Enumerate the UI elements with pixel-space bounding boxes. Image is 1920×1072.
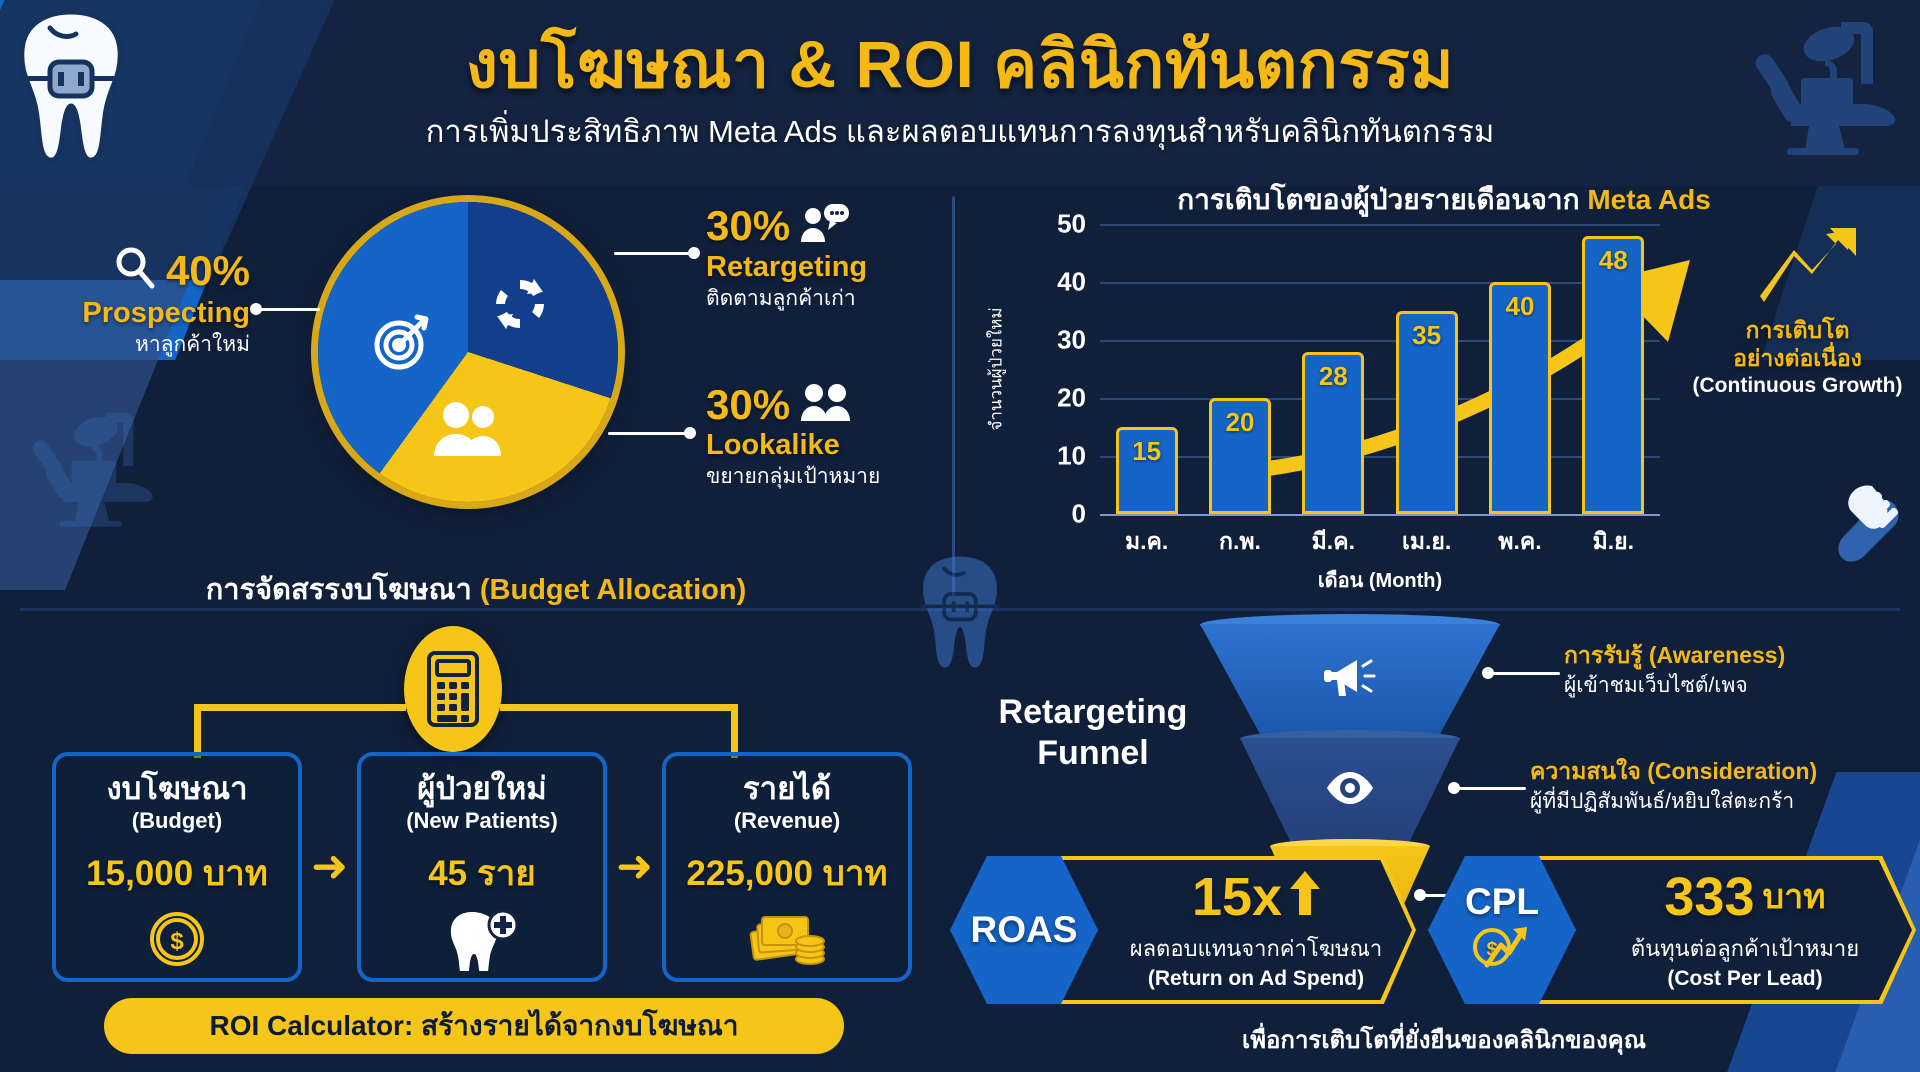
leader-line-lookalike bbox=[608, 432, 690, 435]
target-icon bbox=[370, 312, 432, 374]
funnel-leader-dot-2 bbox=[1448, 782, 1460, 794]
bar-may: 40 bbox=[1489, 282, 1551, 514]
y-tick-0: 0 bbox=[1072, 499, 1086, 530]
metric-roas-value-row: 15x bbox=[1192, 870, 1320, 924]
bar-value-jan: 15 bbox=[1119, 436, 1175, 467]
legend-prospecting: 40% Prospecting หาลูกค้าใหม่ bbox=[60, 246, 250, 358]
roi-card-patients-en: (New Patients) bbox=[406, 808, 558, 834]
roi-card-patients: ผู้ป่วยใหม่ (New Patients) 45 ราย bbox=[357, 752, 607, 982]
up-arrow-icon bbox=[1290, 870, 1320, 924]
y-tick-40: 40 bbox=[1057, 267, 1086, 298]
funnel-label-awareness-sub: ผู้เข้าชมเว็บไซต์/เพจ bbox=[1564, 669, 1785, 702]
megaphone-icon bbox=[1323, 654, 1377, 705]
bar-feb: 20 bbox=[1209, 398, 1271, 514]
infographic-root: งบโฆษณา & ROI คลินิกทันตกรรม การเพิ่มประ… bbox=[0, 0, 1920, 1072]
people-icon bbox=[431, 398, 505, 460]
coin-growth-icon: $ bbox=[1471, 921, 1533, 980]
connector-left-top bbox=[194, 704, 406, 711]
roi-card-revenue-th: รายได้ bbox=[743, 772, 831, 806]
calculator-icon bbox=[404, 626, 502, 752]
legend-retargeting-th: ติดตามลูกค้าเก่า bbox=[706, 286, 946, 311]
funnel-label-awareness-title: การรับรู้ (Awareness) bbox=[1564, 642, 1785, 668]
roi-banner: ROI Calculator: สร้างรายได้จากงบโฆษณา bbox=[104, 998, 844, 1054]
legend-prospecting-pct: 40% bbox=[166, 250, 250, 292]
leader-line-retargeting bbox=[614, 252, 694, 255]
bar-group: 15 ม.ค. 20 ก.พ. 28 มี.ค. bbox=[1100, 224, 1660, 514]
bar-value-mar: 28 bbox=[1305, 361, 1361, 392]
bar-column: 40 พ.ค. bbox=[1489, 224, 1551, 514]
legend-prospecting-th: หาลูกค้าใหม่ bbox=[60, 332, 250, 357]
metric-cpl-unit: บาท bbox=[1763, 880, 1826, 914]
funnel-stage-awareness bbox=[1200, 624, 1500, 734]
flow-arrow-2: ➜ bbox=[616, 845, 653, 889]
x-tick-jun: มิ.ย. bbox=[1593, 524, 1634, 560]
roi-card-patients-th: ผู้ป่วยใหม่ bbox=[417, 772, 546, 806]
svg-text:$: $ bbox=[170, 928, 184, 955]
y-tick-20: 20 bbox=[1057, 383, 1086, 414]
roi-card-revenue-en: (Revenue) bbox=[734, 808, 840, 834]
y-tick-50: 50 bbox=[1057, 209, 1086, 240]
legend-retargeting-pct: 30% bbox=[706, 205, 790, 247]
connector-right-top bbox=[500, 704, 738, 711]
eye-icon bbox=[1324, 768, 1376, 813]
connector-left-down bbox=[194, 704, 201, 758]
footer-note: เพื่อการเติบโตที่ยั่งยืนของคลินิกของคุณ bbox=[968, 1020, 1920, 1059]
funnel-label-consideration-title: ความสนใจ (Consideration) bbox=[1530, 758, 1817, 784]
growth-annotation: การเติบโต อย่างต่อเนื่อง (Continuous Gro… bbox=[1685, 316, 1910, 398]
budget-pie-chart bbox=[318, 202, 618, 502]
chart-title: การเติบโตของผู้ป่วยรายเดือนจาก Meta Ads bbox=[968, 178, 1920, 222]
bar-jan: 15 bbox=[1116, 427, 1178, 514]
roi-flow: งบโฆษณา (Budget) 15,000 บาท $ ➜ ผู้ป่วยใ… bbox=[52, 752, 912, 982]
bar-apr: 35 bbox=[1396, 311, 1458, 514]
metric-cpl-th: ต้นทุนต่อลูกค้าเป้าหมาย bbox=[1631, 931, 1859, 966]
bar-value-apr: 35 bbox=[1399, 320, 1455, 351]
metric-cpl-value: 333 bbox=[1664, 870, 1754, 924]
budget-caption-en: (Budget Allocation) bbox=[480, 574, 746, 606]
y-tick-10: 10 bbox=[1057, 441, 1086, 472]
y-axis-label: จำนวนผู้ป่วยใหม่ bbox=[983, 307, 1010, 430]
funnel-stage-consideration bbox=[1240, 738, 1460, 842]
roi-calculator-section: งบโฆษณา (Budget) 15,000 บาท $ ➜ ผู้ป่วยใ… bbox=[0, 612, 952, 1072]
bar-chart-plot: จำนวนผู้ป่วยใหม่ 50 40 30 20 10 0 15 ม.ค… bbox=[1100, 224, 1660, 514]
legend-lookalike-pct: 30% bbox=[706, 384, 790, 426]
flow-arrow-1: ➜ bbox=[311, 845, 348, 889]
budget-caption-th: การจัดสรรงบโฆษณา bbox=[206, 574, 472, 606]
x-axis-label: เดือน (Month) bbox=[1100, 564, 1660, 596]
funnel-title-line2: Funnel bbox=[978, 733, 1208, 774]
bar-value-jun: 48 bbox=[1585, 245, 1641, 276]
bar-column: 48 มิ.ย. bbox=[1582, 224, 1644, 514]
chart-title-th: การเติบโตของผู้ป่วยรายเดือนจาก bbox=[1177, 184, 1587, 215]
legend-prospecting-en: Prospecting bbox=[60, 297, 250, 330]
x-tick-mar: มี.ค. bbox=[1312, 524, 1355, 560]
roi-card-patients-value: 45 ราย bbox=[428, 846, 536, 901]
roi-card-revenue-value: 225,000 บาท bbox=[686, 846, 887, 901]
bar-mar: 28 bbox=[1302, 352, 1364, 514]
funnel-label-consideration: ความสนใจ (Consideration) ผู้ที่มีปฏิสัมพ… bbox=[1530, 758, 1817, 818]
metrics-row: 15x ผลตอบแทนจากค่าโฆษณา (Return on Ad Sp… bbox=[956, 850, 1916, 1010]
header: งบโฆษณา & ROI คลินิกทันตกรรม การเพิ่มประ… bbox=[0, 0, 1920, 186]
bar-value-may: 40 bbox=[1492, 291, 1548, 322]
bar-column: 20 ก.พ. bbox=[1209, 224, 1271, 514]
legend-lookalike: 30% Lookalike ขยายกลุ่มเป้าหมาย bbox=[706, 382, 946, 490]
roi-card-revenue: รายได้ (Revenue) 225,000 บาท bbox=[662, 752, 912, 982]
bar-jun: 48 bbox=[1582, 236, 1644, 514]
money-stack-icon bbox=[748, 909, 826, 976]
refresh-icon bbox=[490, 274, 550, 334]
roi-card-budget-en: (Budget) bbox=[132, 808, 222, 834]
metric-cpl-badge-label: CPL bbox=[1465, 881, 1539, 923]
budget-allocation-section: 40% Prospecting หาลูกค้าใหม่ 30% Retarge… bbox=[0, 186, 952, 612]
growth-annotation-th1: การเติบโต bbox=[1685, 316, 1910, 344]
coin-dollar-icon: $ bbox=[147, 909, 207, 974]
legend-retargeting: 30% Retargeting ติดตามลูกค้าเก่า bbox=[706, 202, 946, 312]
legend-retargeting-en: Retargeting bbox=[706, 251, 946, 284]
leader-line-prospecting bbox=[258, 308, 320, 311]
growth-arrow-icon bbox=[1760, 226, 1858, 311]
y-tick-30: 30 bbox=[1057, 325, 1086, 356]
bar-value-feb: 20 bbox=[1212, 407, 1268, 438]
metric-roas-value: 15x bbox=[1192, 870, 1282, 924]
tooth-plus-icon bbox=[446, 909, 518, 976]
funnel-label-consideration-sub: ผู้ที่มีปฏิสัมพันธ์/หยิบใส่ตะกร้า bbox=[1530, 785, 1817, 818]
funnel-leader-dot-1 bbox=[1482, 667, 1494, 679]
bar-column: 28 มี.ค. bbox=[1302, 224, 1364, 514]
leader-dot-lookalike bbox=[684, 427, 696, 439]
x-tick-may: พ.ค. bbox=[1498, 524, 1541, 560]
page-title: งบโฆษณา & ROI คลินิกทันตกรรม bbox=[466, 30, 1454, 99]
chart-title-accent: Meta Ads bbox=[1587, 184, 1710, 215]
funnel-leader-1 bbox=[1488, 672, 1560, 675]
page-subtitle: การเพิ่มประสิทธิภาพ Meta Ads และผลตอบแทน… bbox=[426, 106, 1495, 156]
metric-roas: 15x ผลตอบแทนจากค่าโฆษณา (Return on Ad Sp… bbox=[956, 856, 1416, 1004]
x-tick-feb: ก.พ. bbox=[1219, 524, 1261, 560]
budget-caption: การจัดสรรงบโฆษณา (Budget Allocation) bbox=[0, 566, 952, 612]
funnel-title: Retargeting Funnel bbox=[978, 692, 1208, 774]
x-tick-jan: ม.ค. bbox=[1125, 524, 1168, 560]
funnel-title-line1: Retargeting bbox=[978, 692, 1208, 733]
metric-cpl: 333 บาท ต้นทุนต่อลูกค้าเป้าหมาย (Cost Pe… bbox=[1434, 856, 1916, 1004]
bar-column: 35 เม.ย. bbox=[1396, 224, 1458, 514]
retargeting-funnel-section: Retargeting Funnel bbox=[968, 612, 1920, 1072]
leader-dot-prospecting bbox=[250, 303, 262, 315]
metric-roas-th: ผลตอบแทนจากค่าโฆษณา bbox=[1130, 931, 1383, 966]
metric-roas-en: (Return on Ad Spend) bbox=[1148, 967, 1364, 991]
roi-card-budget-value: 15,000 บาท bbox=[86, 846, 268, 901]
search-icon bbox=[114, 246, 156, 295]
growth-annotation-th2: อย่างต่อเนื่อง bbox=[1685, 344, 1910, 372]
connector-right-down bbox=[731, 704, 738, 758]
roi-card-budget: งบโฆษณา (Budget) 15,000 บาท $ bbox=[52, 752, 302, 982]
metric-cpl-value-row: 333 บาท bbox=[1664, 870, 1825, 924]
metric-cpl-en: (Cost Per Lead) bbox=[1667, 967, 1822, 991]
legend-lookalike-th: ขยายกลุ่มเป้าหมาย bbox=[706, 464, 946, 489]
funnel-label-awareness: การรับรู้ (Awareness) ผู้เข้าชมเว็บไซต์/… bbox=[1564, 642, 1785, 702]
funnel-leader-2 bbox=[1454, 787, 1526, 790]
people-group-icon bbox=[800, 382, 852, 427]
legend-lookalike-en: Lookalike bbox=[706, 429, 946, 462]
roi-card-budget-th: งบโฆษณา bbox=[106, 772, 247, 806]
vertical-divider bbox=[952, 196, 955, 596]
metric-roas-badge-label: ROAS bbox=[971, 909, 1078, 951]
leader-dot-retargeting bbox=[688, 247, 700, 259]
growth-annotation-en: (Continuous Growth) bbox=[1685, 374, 1910, 398]
x-tick-apr: เม.ย. bbox=[1402, 524, 1451, 560]
bar-column: 15 ม.ค. bbox=[1116, 224, 1178, 514]
chat-person-icon bbox=[800, 202, 850, 249]
monthly-growth-section: การเติบโตของผู้ป่วยรายเดือนจาก Meta Ads … bbox=[968, 186, 1920, 612]
